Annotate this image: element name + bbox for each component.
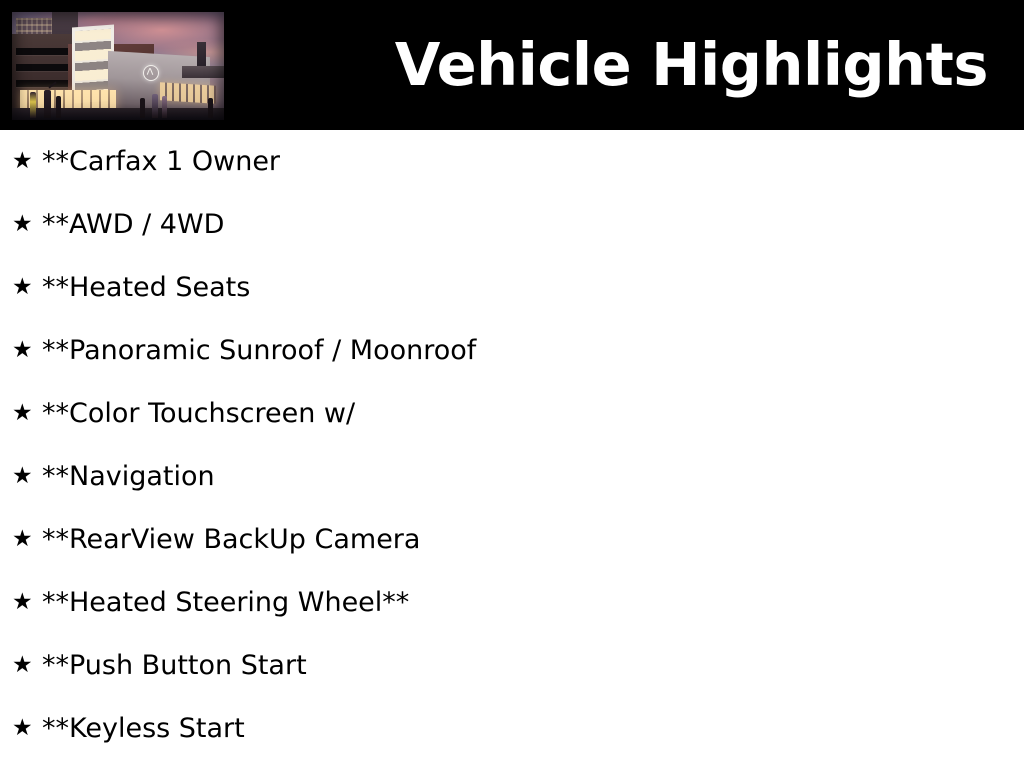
list-item: ★ **Panoramic Sunroof / Moonroof — [0, 319, 1024, 382]
star-bullet-icon: ★ — [12, 339, 42, 362]
list-item-label: **Carfax 1 Owner — [42, 148, 280, 175]
photo-vignette — [12, 12, 224, 120]
page-title: Vehicle Highlights — [395, 26, 988, 104]
slide-header: Vehicle Highlights — [0, 0, 1024, 130]
list-item-label: **RearView BackUp Camera — [42, 526, 420, 553]
list-item: ★ **Heated Seats — [0, 256, 1024, 319]
list-item-label: **Heated Seats — [42, 274, 250, 301]
list-item: ★ **RearView BackUp Camera — [0, 508, 1024, 571]
list-item: ★ **Keyless Start — [0, 697, 1024, 760]
list-item-label: **Push Button Start — [42, 652, 307, 679]
list-item: ★ **Navigation — [0, 445, 1024, 508]
star-bullet-icon: ★ — [12, 276, 42, 299]
list-item-label: **Heated Steering Wheel** — [42, 589, 409, 616]
vehicle-highlights-slide: Vehicle Highlights ★ **Carfax 1 Owner ★ … — [0, 0, 1024, 768]
star-bullet-icon: ★ — [12, 465, 42, 488]
star-bullet-icon: ★ — [12, 150, 42, 173]
list-item: ★ **Color Touchscreen w/ — [0, 382, 1024, 445]
list-item-label: **Panoramic Sunroof / Moonroof — [42, 337, 476, 364]
list-item-label: **Navigation — [42, 463, 215, 490]
list-item: ★ **Heated Steering Wheel** — [0, 571, 1024, 634]
list-item-label: **Color Touchscreen w/ — [42, 400, 355, 427]
list-item: ★ **AWD / 4WD — [0, 193, 1024, 256]
list-item-label: **Keyless Start — [42, 715, 245, 742]
highlights-list: ★ **Carfax 1 Owner ★ **AWD / 4WD ★ **Hea… — [0, 130, 1024, 760]
star-bullet-icon: ★ — [12, 591, 42, 614]
list-item: ★ **Push Button Start — [0, 634, 1024, 697]
star-bullet-icon: ★ — [12, 402, 42, 425]
star-bullet-icon: ★ — [12, 528, 42, 551]
list-item-label: **AWD / 4WD — [42, 211, 224, 238]
star-bullet-icon: ★ — [12, 717, 42, 740]
dealership-photo — [12, 12, 224, 120]
star-bullet-icon: ★ — [12, 213, 42, 236]
star-bullet-icon: ★ — [12, 654, 42, 677]
list-item: ★ **Carfax 1 Owner — [0, 130, 1024, 193]
